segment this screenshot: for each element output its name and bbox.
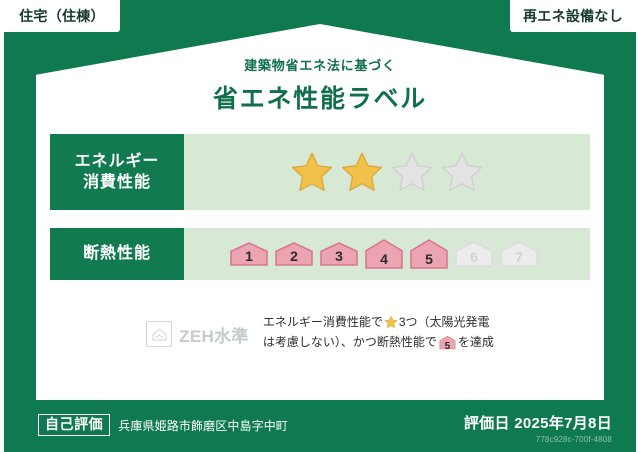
grade-badge-active: 3: [319, 241, 359, 267]
grade-badge-active: 2: [274, 241, 314, 267]
star-empty-icon: [440, 150, 484, 194]
building-type-label: 住宅（住棟）: [19, 6, 105, 26]
label-footer: 自己評価 兵庫県姫路市飾磨区中島字中町 評価日 2025年7月8日 778c92…: [0, 404, 640, 452]
zeh-mark: ZEH水準: [146, 321, 249, 347]
energy-label-line1: エネルギー: [75, 151, 160, 172]
grade-badge-active: 5: [409, 238, 449, 270]
grade-badge-inactive: 7: [499, 240, 539, 268]
zeh-desc-stars: 3つ（太陽光発電: [399, 315, 490, 329]
footer-left-group: 自己評価 兵庫県姫路市飾磨区中島字中町: [38, 414, 288, 436]
building-type-tab: 住宅（住棟）: [4, 0, 120, 32]
property-address: 兵庫県姫路市飾磨区中島字中町: [118, 417, 288, 434]
title-main: 省エネ性能ラベル: [36, 79, 604, 115]
energy-performance-row: エネルギー 消費性能: [50, 134, 590, 210]
grade-badge-value: 1: [229, 248, 269, 264]
grade-badge-value: 6: [454, 249, 494, 265]
grade-badge-value: 3: [319, 248, 359, 264]
star-empty-icon: [390, 150, 434, 194]
energy-star-rating: [184, 134, 590, 210]
zeh-house-icon: [146, 321, 172, 347]
grade-badge-value: 5: [409, 251, 449, 267]
inline-badge-value: 5: [439, 339, 456, 356]
insulation-performance-row: 断熱性能 1234567: [50, 228, 590, 280]
energy-performance-label: エネルギー 消費性能: [50, 134, 184, 210]
zeh-desc-part2: は考慮しない）、かつ断熱性能で: [263, 335, 437, 349]
zeh-desc-part1: エネルギー消費性能で: [263, 315, 383, 329]
page-title: 建築物省エネ法に基づく 省エネ性能ラベル: [36, 55, 604, 115]
insulation-label-text: 断熱性能: [83, 243, 151, 264]
zeh-label: ZEH水準: [179, 322, 249, 347]
grade-badge-active: 1: [229, 241, 269, 267]
grade-badge-value: 4: [364, 251, 404, 267]
footer-right-group: 評価日 2025年7月8日 778c928c-700f-4808: [464, 412, 612, 444]
grade-badge-inactive: 6: [454, 240, 494, 268]
evaluation-date-label: 評価日: [464, 415, 510, 432]
insulation-performance-label: 断熱性能: [50, 228, 184, 280]
inline-grade-badge: 5: [439, 335, 456, 356]
self-evaluation-badge: 自己評価: [38, 414, 110, 436]
renewable-energy-label: 再エネ設備なし: [523, 6, 623, 26]
grade-badge-value: 7: [499, 249, 539, 265]
renewable-energy-tab: 再エネ設備なし: [510, 0, 636, 32]
evaluation-date: 評価日 2025年7月8日: [464, 412, 612, 433]
zeh-standard-block: ZEH水準 エネルギー消費性能で3つ（太陽光発電 は考慮しない）、かつ断熱性能で…: [50, 312, 590, 356]
star-filled-icon: [340, 150, 384, 194]
insulation-grade-scale: 1234567: [184, 228, 590, 280]
title-subtitle: 建築物省エネ法に基づく: [36, 55, 604, 74]
energy-label-line2: 消費性能: [83, 172, 151, 193]
energy-performance-label: 住宅（住棟） 再エネ設備なし 建築物省エネ法に基づく 省エネ性能ラベル エネルギ…: [0, 0, 640, 452]
inline-star-icon: [384, 315, 398, 329]
zeh-description: エネルギー消費性能で3つ（太陽光発電 は考慮しない）、かつ断熱性能で5を達成: [263, 312, 494, 356]
grade-badge-value: 2: [274, 248, 314, 264]
zeh-desc-part3: を達成: [458, 335, 494, 349]
grade-badge-active: 4: [364, 238, 404, 270]
evaluation-id: 778c928c-700f-4808: [464, 435, 612, 444]
star-filled-icon: [290, 150, 334, 194]
evaluation-date-value: 2025年7月8日: [514, 415, 612, 432]
